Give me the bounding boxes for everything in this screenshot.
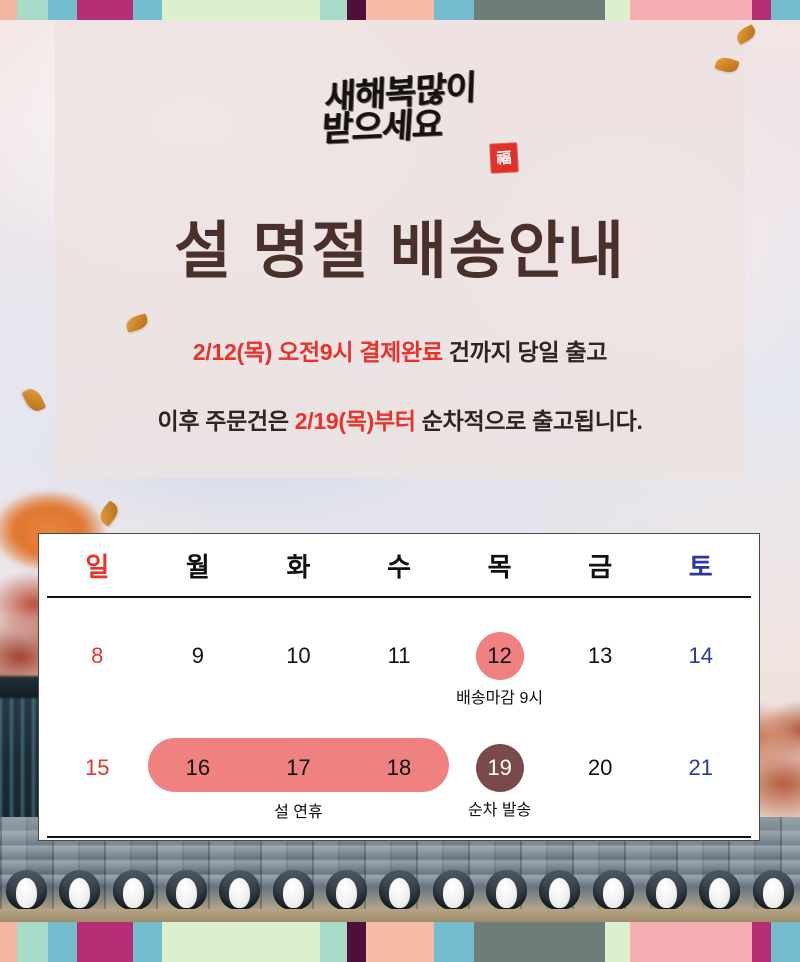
calendar-day-number: 21 xyxy=(677,744,725,792)
calendar-day-note: 배송마감 9시 xyxy=(456,684,543,708)
calendar-weekday-월: 월 xyxy=(148,547,249,584)
stripe-segment-5 xyxy=(162,0,320,20)
stripe-segment-13 xyxy=(752,922,771,962)
saekdong-stripe-band-top xyxy=(0,0,800,20)
seal-glyph: 福 xyxy=(496,150,512,166)
stripe-segment-5 xyxy=(162,922,320,962)
red-seal-stamp-icon: 福 xyxy=(489,142,519,173)
stripe-segment-6 xyxy=(320,922,347,962)
stripe-segment-12 xyxy=(630,922,751,962)
calendar-day-cell[interactable]: 20 xyxy=(550,710,651,822)
stripe-segment-11 xyxy=(605,0,630,20)
calendar-day-number: 18 xyxy=(375,744,423,792)
calendar-day-cell[interactable]: 13 xyxy=(550,598,651,710)
calendar-day-cell[interactable]: 19순차 발송 xyxy=(449,710,550,822)
calendar-day-cell[interactable]: 9 xyxy=(148,598,249,710)
stripe-segment-4 xyxy=(133,922,162,962)
calendar-day-cell[interactable]: 21 xyxy=(650,710,751,822)
calendar-weekday-일: 일 xyxy=(47,547,148,584)
new-year-calligraphy: 새해복많이 받으세요 xyxy=(0,76,800,186)
calendar-day-cell[interactable]: 12배송마감 9시 xyxy=(449,598,550,710)
calendar-weekday-금: 금 xyxy=(550,547,651,584)
stripe-segment-0 xyxy=(0,922,17,962)
delivery-calendar: 일월화수목금토 89101112배송마감 9시1314설 연휴151617181… xyxy=(38,533,760,841)
stripe-segment-10 xyxy=(474,922,605,962)
stripe-segment-2 xyxy=(48,0,77,20)
calendar-day-cell[interactable]: 8 xyxy=(47,598,148,710)
calendar-day-number: 20 xyxy=(576,744,624,792)
stripe-segment-8 xyxy=(366,0,433,20)
roof-base-beam xyxy=(0,909,800,922)
stripe-segment-2 xyxy=(48,922,77,962)
calendar-day-note: 순차 발송 xyxy=(468,796,531,820)
calendar-day-number: 10 xyxy=(274,632,322,680)
calendar-weekday-수: 수 xyxy=(349,547,450,584)
stripe-segment-8 xyxy=(366,922,433,962)
stripe-segment-14 xyxy=(771,0,800,20)
poster-root: 새해복많이 받으세요 福 설 명절 배송안내 2/12(목) 오전9시 결제완료… xyxy=(0,0,800,962)
calendar-day-number: 11 xyxy=(375,632,423,680)
page-title: 설 명절 배송안내 xyxy=(0,200,800,290)
stripe-segment-13 xyxy=(752,0,771,20)
resume-lead: 이후 주문건은 xyxy=(157,408,294,434)
calendar-day-number: 9 xyxy=(174,632,222,680)
stripe-segment-6 xyxy=(320,0,347,20)
stripe-segment-7 xyxy=(347,922,366,962)
resume-rest: 순차적으로 출고됩니다. xyxy=(416,408,643,434)
calendar-week-row: 설 연휴1516171819순차 발송2021 xyxy=(47,710,751,822)
calendar-day-number: 13 xyxy=(576,632,624,680)
saekdong-stripe-band-bottom xyxy=(0,922,800,962)
calendar-day-number: 12 xyxy=(476,632,524,680)
stripe-segment-14 xyxy=(771,922,800,962)
calendar-day-number: 19 xyxy=(476,744,524,792)
stripe-segment-10 xyxy=(474,0,605,20)
stripe-segment-0 xyxy=(0,0,17,20)
stripe-segment-4 xyxy=(133,0,162,20)
stripe-segment-7 xyxy=(347,0,366,20)
calendar-day-cell[interactable]: 10 xyxy=(248,598,349,710)
calendar-day-cell[interactable]: 15 xyxy=(47,710,148,822)
stripe-segment-9 xyxy=(434,0,474,20)
resume-highlight: 2/19(목)부터 xyxy=(295,408,416,434)
calendar-day-number: 16 xyxy=(174,744,222,792)
calendar-weekday-목: 목 xyxy=(449,547,550,584)
calendar-day-number: 17 xyxy=(274,744,322,792)
stripe-segment-12 xyxy=(630,0,751,20)
calendar-day-cell[interactable]: 11 xyxy=(349,598,450,710)
calligraphy-block: 새해복많이 받으세요 xyxy=(323,71,476,149)
stripe-segment-3 xyxy=(77,0,133,20)
calendar-day-number: 15 xyxy=(73,744,121,792)
calligraphy-line-2: 받으세요 xyxy=(289,106,476,149)
stripe-segment-1 xyxy=(17,0,48,20)
calendar-weekday-화: 화 xyxy=(248,547,349,584)
calendar-day-cell[interactable]: 14 xyxy=(650,598,751,710)
calendar-day-number: 8 xyxy=(73,632,121,680)
stripe-segment-1 xyxy=(17,922,48,962)
calendar-day-number: 14 xyxy=(677,632,725,680)
stripe-segment-3 xyxy=(77,922,133,962)
cutoff-highlight: 2/12(목) 오전9시 결제완료 xyxy=(193,339,443,365)
resume-shipping-notice: 이후 주문건은 2/19(목)부터 순차적으로 출고됩니다. xyxy=(0,402,800,436)
calendar-body: 89101112배송마감 9시1314설 연휴1516171819순차 발송20… xyxy=(47,598,751,838)
stripe-segment-9 xyxy=(434,922,474,962)
calendar-weekday-토: 토 xyxy=(650,547,751,584)
holiday-range-label: 설 연휴 xyxy=(148,798,450,822)
calendar-weekday-header: 일월화수목금토 xyxy=(47,534,751,598)
stripe-segment-11 xyxy=(605,922,630,962)
calendar-week-row: 89101112배송마감 9시1314 xyxy=(47,598,751,710)
cutoff-rest: 건까지 당일 출고 xyxy=(443,339,607,365)
delivery-cutoff-notice: 2/12(목) 오전9시 결제완료 건까지 당일 출고 xyxy=(0,333,800,367)
